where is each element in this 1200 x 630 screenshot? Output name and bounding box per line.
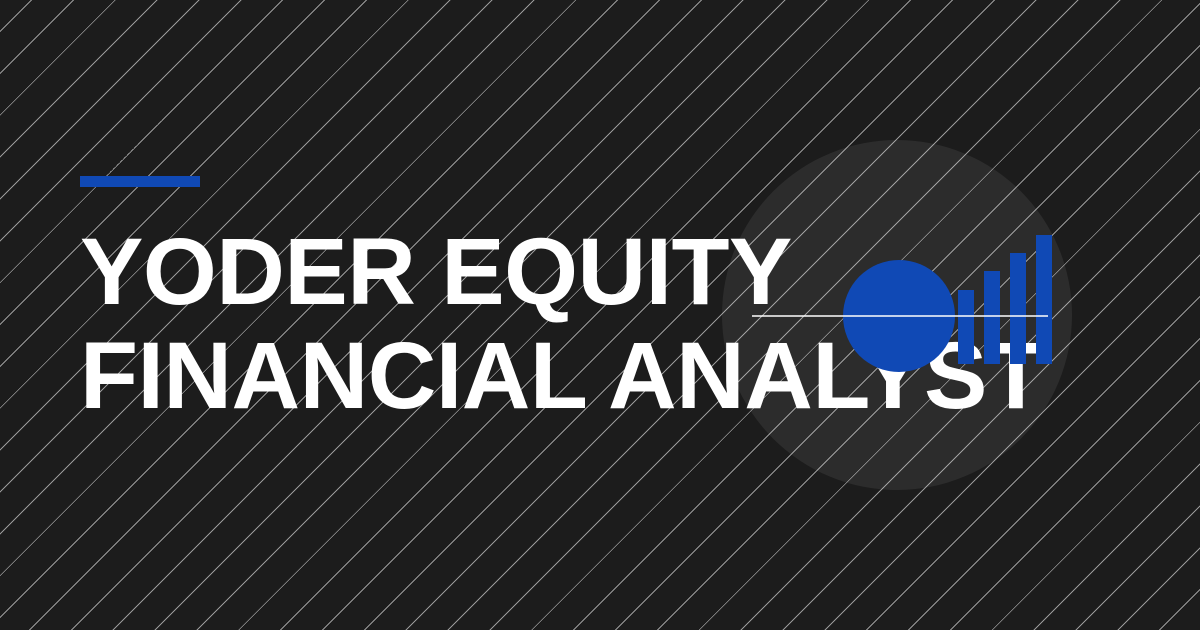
- title-line-2: FINANCIAL ANALYST: [80, 324, 1040, 428]
- accent-bar: [80, 176, 200, 187]
- page-title: YODER EQUITY FINANCIAL ANALYST: [80, 220, 1040, 428]
- banner-canvas: YODER EQUITY FINANCIAL ANALYST: [0, 0, 1200, 630]
- title-line-1: YODER EQUITY: [80, 220, 1040, 324]
- headline-block: YODER EQUITY FINANCIAL ANALYST: [80, 176, 1040, 428]
